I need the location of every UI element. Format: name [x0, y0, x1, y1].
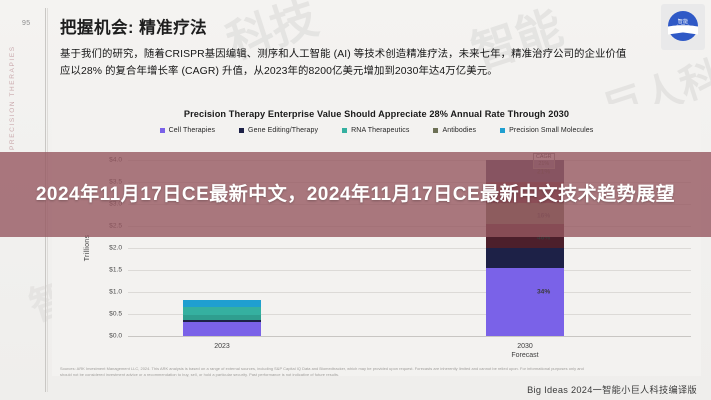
- bar-2023[interactable]: [183, 300, 261, 336]
- x-axis-tick-2030: 2030 Forecast: [465, 342, 585, 361]
- y-axis-tick-label: $0.0: [86, 333, 122, 340]
- legend-label: RNA Therapeutics: [351, 127, 409, 134]
- legend-label: Precision Small Molecules: [509, 127, 593, 134]
- y-axis-tick-label: $2.0: [86, 245, 122, 252]
- page-number: 95: [22, 20, 30, 27]
- title-overlay-banner: 2024年11月17日CE最新中文，2024年11月17日CE最新中文技术趋势展…: [0, 152, 711, 237]
- slide-body-paragraph: 基于我们的研究，随着CRISPR基因编辑、测序和人工智能 (AI) 等技术创造精…: [60, 47, 635, 81]
- legend-item[interactable]: Antibodies: [433, 127, 476, 134]
- section-side-label: PRECISION THERAPIES: [9, 45, 16, 150]
- legend-label: Antibodies: [442, 127, 476, 134]
- data-label-34: 34%: [537, 289, 550, 296]
- legend-swatch-gene-editing: [239, 128, 244, 133]
- y-axis-tick-label: $0.5: [86, 311, 122, 318]
- legend-item[interactable]: RNA Therapeutics: [342, 127, 409, 134]
- gridline: [128, 270, 691, 271]
- gridline: [128, 248, 691, 249]
- x-axis-tick-2023-line1: 2023: [162, 342, 282, 351]
- y-axis-tick-label: $1.0: [86, 289, 122, 296]
- big-ideas-footer: Big Ideas 2024一智能小巨人科技编译版: [527, 382, 697, 396]
- brand-logo-icon: 智能 小巨人: [668, 11, 698, 41]
- legend-swatch-antibodies: [433, 128, 438, 133]
- bar-segment-cell-therapies: [486, 268, 564, 336]
- overlay-title-text: 2024年11月17日CE最新中文，2024年11月17日CE最新中文技术趋势展…: [20, 182, 691, 207]
- legend-item[interactable]: Precision Small Molecules: [500, 127, 593, 134]
- legend-swatch-cell-therapies: [160, 128, 165, 133]
- bar-segment-cell-therapies: [183, 322, 261, 336]
- chart-legend: Cell Therapies Gene Editing/Therapy RNA …: [52, 127, 701, 134]
- gridline: [128, 292, 691, 293]
- chart-source-footnote: Sources: ARK Investment Management LLC, …: [60, 366, 591, 378]
- x-axis-line: [128, 336, 691, 337]
- x-axis-tick-2023: 2023: [162, 342, 282, 351]
- book-icon: [668, 25, 698, 35]
- legend-swatch-precision-small-molecules: [500, 128, 505, 133]
- legend-item[interactable]: Cell Therapies: [160, 127, 215, 134]
- chart-title: Precision Therapy Enterprise Value Shoul…: [52, 104, 701, 119]
- chart-container: Precision Therapy Enterprise Value Shoul…: [52, 104, 701, 376]
- slide-title: 把握机会: 精准疗法: [60, 14, 207, 38]
- legend-item[interactable]: Gene Editing/Therapy: [239, 127, 318, 134]
- y-axis-tick-label: $1.5: [86, 267, 122, 274]
- bar-segment-precision-small-molecules: [183, 300, 261, 307]
- legend-label: Gene Editing/Therapy: [248, 127, 318, 134]
- bar-segment-rna-therapeutics: [183, 307, 261, 315]
- bar-segment-gene-editing-dark: [486, 248, 564, 268]
- x-axis-tick-2030-line2: Forecast: [465, 351, 585, 360]
- x-axis-tick-2030-line1: 2030: [465, 342, 585, 351]
- brand-badge: 智能 小巨人: [661, 4, 705, 50]
- legend-label: Cell Therapies: [169, 127, 215, 134]
- legend-swatch-rna-therapeutics: [342, 128, 347, 133]
